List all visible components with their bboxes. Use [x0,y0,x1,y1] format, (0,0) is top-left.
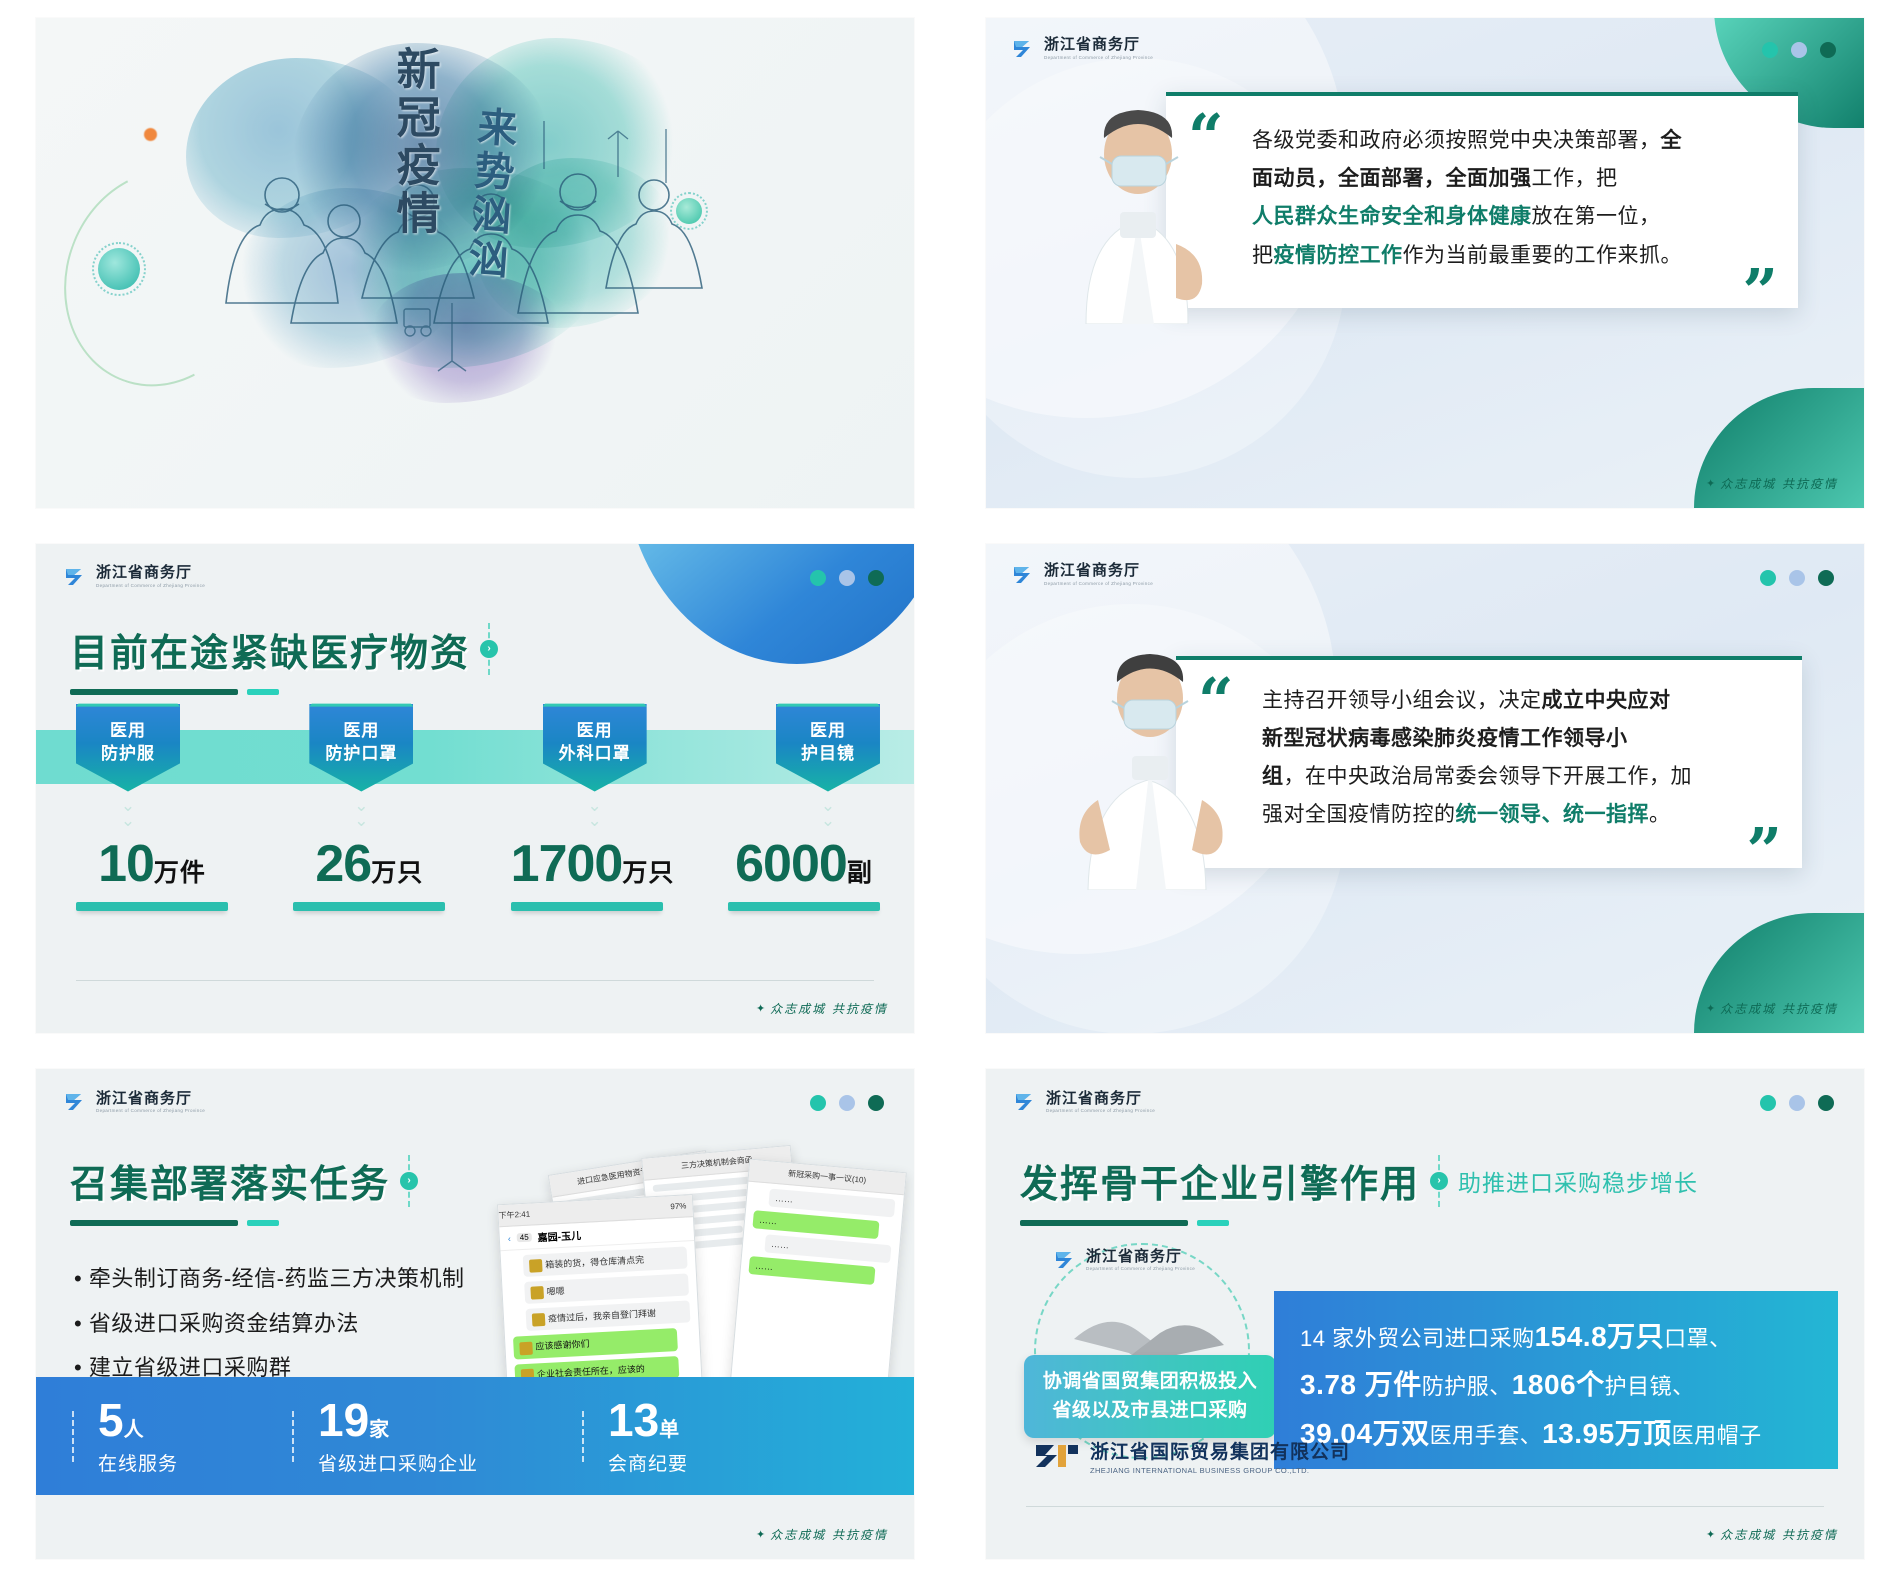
data-label: 医用手套、 [1430,1423,1543,1448]
stats-bar: 5人在线服务19家省级进口采购企业13单会商纪要 [36,1377,914,1495]
stat-label: 省级进口采购企业 [318,1449,582,1476]
data-value: 13.95万顶 [1542,1418,1672,1449]
org-name-en: Department of Commerce of Zhejiang Provi… [1044,56,1153,61]
zib-logo: 浙江省国际贸易集团有限公司 ZHEJIANG INTERNATIONAL BUS… [1034,1437,1350,1475]
data-label: 护目镜、 [1605,1374,1695,1399]
quote-segment: 把 [1252,244,1274,267]
avatar [530,1287,544,1301]
data-label: 14 家外贸公司进口采购 [1300,1326,1535,1351]
quote-line: 各级党委和政府必须按照党中央决策部署，全 [1252,122,1758,160]
title-row: 召集部署落实任务 › [70,1153,410,1208]
supply-badge[interactable]: 医用外科口罩⌄⌄ [543,704,647,828]
badge-cap [776,691,880,707]
data-line: 14 家外贸公司进口采购154.8万只口罩、 [1300,1313,1812,1361]
quote-segment: 统一领导、统一指挥 [1456,803,1650,826]
title-row: 目前在途紧缺医疗物资 › [70,622,490,677]
badge-line-2: 护目镜 [776,743,880,766]
badge-line-2: 防护服 [76,743,180,766]
title-underline [1020,1220,1698,1226]
dot-1 [810,1095,826,1111]
zib-logo-text: 浙江省国际贸易集团有限公司 ZHEJIANG INTERNATIONAL BUS… [1090,1437,1350,1475]
dot-1 [1760,570,1776,586]
stat-unit: 万只 [622,859,674,887]
title-divider: › [1438,1155,1440,1207]
zhejiang-commerce-logo-icon [1010,562,1036,588]
page-title: 发挥骨干企业引擎作用 [1020,1153,1420,1208]
quote-segment: 成立中央应对 [1542,689,1671,712]
quote-segment: 。 [1649,803,1671,826]
data-label: 口罩、 [1664,1326,1732,1351]
data-label: 医用帽子 [1672,1423,1762,1448]
title-block: 目前在途紧缺医疗物资 › [70,622,490,695]
supply-stat: 26万只 [293,834,445,911]
underline-primary [70,689,238,695]
data-value: 154.8万只 [1535,1321,1665,1352]
corner-dots [1760,570,1834,586]
footer-slogan: ✦ 众志成城 共抗疫情 [1706,475,1838,492]
quote-text: 各级党委和政府必须按照党中央决策部署，全面动员，全面部署，全面加强工作，把人民群… [1252,122,1758,275]
stat-unit: 人 [124,1419,144,1441]
org-logo-text: 浙江省商务厅 Department of Commerce of Zhejian… [1046,1091,1155,1115]
org-logo-text: 浙江省商务厅 Department of Commerce of Zhejian… [1044,37,1153,61]
supply-badge-hex: 医用防护口罩 [309,704,413,792]
supply-badge-hex: 医用外科口罩 [543,704,647,792]
chat-message-list: 箱装的货，得仓库清点完嗯嗯疫情过后，我亲自登门拜谢应该感谢你们企业社会责任所在，… [501,1246,702,1387]
quote-line: 主持召开领导小组会议，决定成立中央应对 [1262,682,1768,720]
chevron-down-icon: ⌄⌄ [776,798,880,829]
slide-cell-2: 浙江省商务厅 Department of Commerce of Zhejian… [950,0,1900,526]
slide-cell-4: 浙江省商务厅 Department of Commerce of Zhejian… [950,526,1900,1052]
portrait-photo [1058,640,1243,890]
data-label: 防护服、 [1422,1374,1512,1399]
stat-underline [728,902,880,911]
org-name-en: Department of Commerce of Zhejiang Provi… [96,584,205,589]
dot-2 [839,570,855,586]
dot-2 [1791,42,1807,58]
org-logo: 浙江省商务厅 Department of Commerce of Zhejian… [62,564,205,590]
slogan-icon: ✦ [1706,1002,1715,1015]
corner-dots [810,1095,884,1111]
procurement-data-lines: 14 家外贸公司进口采购154.8万只口罩、3.78 万件防护服、1806个护目… [1300,1313,1812,1457]
procurement-data-block: 14 家外贸公司进口采购154.8万只口罩、3.78 万件防护服、1806个护目… [1274,1291,1838,1469]
supply-stats: 10万件26万只1700万只6000副 [76,834,880,911]
chevron-down-icon: ⌄⌄ [309,798,413,829]
supply-badge[interactable]: 医用护目镜⌄⌄ [776,704,880,828]
stat-number: 6000 [735,835,847,893]
slide-cell-5: 浙江省商务厅 Department of Commerce of Zhejian… [0,1051,950,1577]
stat-number: 5 [98,1394,124,1446]
coordination-pill: 协调省国贸集团积极投入省级以及市县进口采购 [1024,1355,1276,1438]
accent-dot-orange [144,128,157,141]
quote-segment: 全 [1661,129,1683,152]
quote-line: 面动员，全面部署，全面加强工作，把 [1252,160,1758,198]
badge-line-2: 防护口罩 [309,743,413,766]
slide-tasks[interactable]: 浙江省商务厅 Department of Commerce of Zhejian… [36,1069,914,1559]
task-bullet-list: 牵头制订商务-经信-药监三方决策机制省级进口采购资金结算办法建立省级进口采购群 [74,1257,504,1390]
underline-primary [70,1220,238,1226]
badge-line-1: 医用 [309,720,413,743]
corner-dots [1762,42,1836,58]
stat-number: 19 [318,1394,369,1446]
chat-group-title: 嘉园-玉儿 [537,1227,581,1244]
stat-number: 1700 [511,835,623,893]
dot-2 [1789,1095,1805,1111]
chevron-right-icon: › [400,1172,418,1190]
chat-group-count: 45 [517,1233,532,1243]
dot-3 [868,570,884,586]
slogan-icon: ✦ [1706,1528,1715,1541]
quote-segment: 组 [1262,765,1284,788]
org-logo-text: 浙江省商务厅 Department of Commerce of Zhejian… [1044,563,1153,587]
org-name-cn: 浙江省商务厅 [96,563,192,581]
slogan-icon: ✦ [1706,477,1715,490]
back-icon: ‹ [508,1233,512,1243]
quote-segment: 主持召开领导小组会议，决定 [1262,689,1542,712]
quote-segment: ，在中央政治局常委会领导下开展工作，加 [1284,765,1693,788]
chat-bubble: …… [748,1256,875,1285]
cover-title-col-1: 新冠疫情 [388,46,439,238]
title-block: 发挥骨干企业引擎作用 › 助推进口采购稳步增长 [1020,1153,1698,1226]
zib-name-en: ZHEJIANG INTERNATIONAL BUSINESS GROUP CO… [1090,1466,1350,1475]
slogan-text: 众志成城 共抗疫情 [1720,1526,1838,1543]
org-logo: 浙江省商务厅 Department of Commerce of Zhejian… [62,1089,205,1115]
quote-segment: 人民群众生命安全和身体健康 [1252,205,1532,228]
stat-number: 26 [315,835,371,893]
quote-card: “ ” 各级党委和政府必须按照党中央决策部署，全面动员，全面部署，全面加强工作，… [1166,92,1798,308]
data-value: 3.78 万件 [1300,1369,1422,1400]
dot-1 [1760,1095,1776,1111]
badge-line-1: 医用 [76,720,180,743]
slide-cell-6: 浙江省商务厅 Department of Commerce of Zhejian… [950,1051,1900,1577]
summary-stat: 13单会商纪要 [582,1397,802,1476]
slide-enterprise-engine[interactable]: 浙江省商务厅 Department of Commerce of Zhejian… [986,1069,1864,1559]
org-logo: 浙江省商务厅 Department of Commerce of Zhejian… [1010,562,1153,588]
badge-line-2: 外科口罩 [543,743,647,766]
chat-message: 疫情过后，我亲自登门拜谢 [526,1301,691,1332]
footer-slogan: ✦ 众志成城 共抗疫情 [1706,1526,1838,1543]
page-subtitle: 助推进口采购稳步增长 [1458,1164,1698,1198]
slogan-icon: ✦ [756,1002,765,1015]
zhejiang-commerce-logo-icon [1012,1089,1038,1115]
title-divider: › [488,623,490,675]
slide-grid: 新冠疫情 来势汹汹 [0,0,1900,1577]
chat-message: 嗯嗯 [524,1274,689,1305]
zhejiang-commerce-logo-icon [62,564,88,590]
stat-underline [76,902,228,911]
portrait-photo [1056,94,1221,324]
title-underline [70,689,490,695]
avatar [519,1341,533,1355]
data-value: 1806个 [1512,1369,1605,1400]
quote-segment: 面动员，全面部署，全面加强 [1252,167,1532,190]
stat-unit: 家 [369,1419,389,1441]
quote-line: 把疫情防控工作作为当前最重要的工作来抓。 [1252,237,1758,275]
dot-3 [1818,1095,1834,1111]
supply-stat: 1700万只 [511,834,663,911]
chat-time: 下午2:41 [498,1209,530,1222]
data-line: 39.04万双医用手套、13.95万顶医用帽子 [1300,1410,1812,1458]
chevron-down-icon: ⌄⌄ [543,798,647,829]
stat-unit: 万只 [371,859,423,887]
quote-line: 强对全国疫情防控的统一领导、统一指挥。 [1262,796,1768,834]
badge-line-1: 医用 [776,720,880,743]
dot-3 [868,1095,884,1111]
avatar [532,1314,546,1328]
cover-artwork: 新冠疫情 来势汹汹 [36,18,914,508]
supply-badge-hex: 医用防护服 [76,704,180,792]
org-name-en: Department of Commerce of Zhejiang Provi… [1086,1267,1195,1272]
title-underline [70,1220,410,1226]
data-line: 3.78 万件防护服、1806个护目镜、 [1300,1361,1812,1409]
org-name-en: Department of Commerce of Zhejiang Provi… [96,1109,205,1114]
corner-dots [1760,1095,1834,1111]
quote-segment: 疫情防控工作 [1274,244,1403,267]
underline-accent [1197,1220,1229,1226]
slide-cell-1: 新冠疫情 来势汹汹 [0,0,950,526]
slogan-text: 众志成城 共抗疫情 [770,1526,888,1543]
dot-3 [1818,570,1834,586]
chat-message: 箱装的货，得仓库清点完 [523,1247,688,1278]
org-name-en: Department of Commerce of Zhejiang Provi… [1046,1109,1155,1114]
badge-cap [543,691,647,707]
org-logo-text: 浙江省商务厅 Department of Commerce of Zhejian… [1086,1249,1195,1273]
org-name-cn: 浙江省商务厅 [1044,561,1140,579]
supply-badge[interactable]: 医用防护口罩⌄⌄ [309,704,413,828]
org-name-cn: 浙江省商务厅 [96,1089,192,1107]
org-name-cn: 浙江省商务厅 [1086,1247,1182,1265]
quote-close-icon: ” [1742,273,1778,310]
supply-badge[interactable]: 医用防护服⌄⌄ [76,704,180,828]
dot-1 [1762,42,1778,58]
chevron-down-icon: ⌄⌄ [76,798,180,829]
title-divider: › [408,1155,410,1207]
title-block: 召集部署落实任务 › [70,1153,410,1226]
quote-segment: 工作，把 [1532,167,1618,190]
avatar [529,1259,543,1273]
quote-close-icon: ” [1746,832,1782,869]
quote-segment: 强对全国疫情防控的 [1262,803,1456,826]
underline-accent [247,1220,279,1226]
stat-label: 在线服务 [98,1449,292,1476]
org-logo: 浙江省商务厅 Department of Commerce of Zhejian… [1010,36,1153,62]
org-logo: 浙江省商务厅 Department of Commerce of Zhejian… [1012,1089,1155,1115]
stat-number: 13 [608,1394,659,1446]
quote-card: “ ” 主持召开领导小组会议，决定成立中央应对新型冠状病毒感染肺炎疫情工作领导小… [1176,656,1802,868]
page-title: 目前在途紧缺医疗物资 [70,622,470,677]
summary-stat: 5人在线服务 [72,1397,292,1476]
zib-name-cn: 浙江省国际贸易集团有限公司 [1090,1441,1350,1463]
virus-icon-small [676,198,702,224]
slogan-text: 众志成城 共抗疫情 [1720,475,1838,492]
stat-unit: 单 [659,1419,679,1441]
slogan-icon: ✦ [756,1528,765,1541]
slide-quote-li[interactable]: 浙江省商务厅 Department of Commerce of Zhejian… [986,544,1864,1034]
footer-slogan: ✦ 众志成城 共抗疫情 [756,1526,888,1543]
footer-slogan: ✦ 众志成城 共抗疫情 [756,1000,888,1017]
task-bullet: 牵头制订商务-经信-药监三方决策机制 [74,1257,504,1301]
quote-segment: 新型冠状病毒感染肺炎疫情工作领导小 [1262,727,1628,750]
slide-cover[interactable]: 新冠疫情 来势汹汹 [36,18,914,508]
chat-battery: 97% [670,1201,692,1211]
org-name-cn: 浙江省商务厅 [1046,1089,1142,1107]
quote-segment: 各级党委和政府必须按照党中央决策部署， [1252,129,1661,152]
dot-2 [1789,570,1805,586]
quote-line: 组，在中央政治局常委会领导下开展工作，加 [1262,758,1768,796]
org-logo-text: 浙江省商务厅 Department of Commerce of Zhejian… [96,1091,205,1115]
quote-line: 人民群众生命安全和身体健康放在第一位， [1252,198,1758,236]
zhejiang-commerce-logo-icon [1010,36,1036,62]
badge-line-1: 医用 [543,720,647,743]
underline-accent [247,689,279,695]
stat-underline [293,902,445,911]
quote-segment: 放在第一位， [1532,205,1661,228]
cover-title-line1: 新冠疫情 [388,46,439,238]
zib-mark-icon [1034,1441,1080,1471]
stat-label: 会商纪要 [608,1449,802,1476]
chat-message: 应该感谢你们 [513,1329,678,1360]
quote-line: 新型冠状病毒感染肺炎疫情工作领导小 [1262,720,1768,758]
dot-2 [839,1095,855,1111]
slogan-text: 众志成城 共抗疫情 [1720,1000,1838,1017]
slide-quote-xi[interactable]: 浙江省商务厅 Department of Commerce of Zhejian… [986,18,1864,508]
zhejiang-commerce-logo-icon [62,1089,88,1115]
chevron-right-icon: › [1430,1172,1448,1190]
supply-badge-hex: 医用护目镜 [776,704,880,792]
title-row: 发挥骨干企业引擎作用 › 助推进口采购稳步增长 [1020,1153,1698,1208]
slide-supplies[interactable]: 浙江省商务厅 Department of Commerce of Zhejian… [36,544,914,1034]
supply-badges: 医用防护服⌄⌄医用防护口罩⌄⌄医用外科口罩⌄⌄医用护目镜⌄⌄ [76,704,880,828]
slogan-text: 众志成城 共抗疫情 [770,1000,888,1017]
stat-number: 10 [98,835,154,893]
supply-stat: 10万件 [76,834,228,911]
underline-primary [1020,1220,1188,1226]
supply-stat: 6000副 [728,834,880,911]
org-name-cn: 浙江省商务厅 [1044,35,1140,53]
footer-rule [76,980,874,981]
org-name-en: Department of Commerce of Zhejiang Provi… [1044,582,1153,587]
page-title: 召集部署落实任务 [70,1153,390,1208]
stat-unit: 副 [847,859,873,887]
slide-cell-3: 浙江省商务厅 Department of Commerce of Zhejian… [0,526,950,1052]
stat-underline [511,902,663,911]
footer-slogan: ✦ 众志成城 共抗疫情 [1706,1000,1838,1017]
task-bullet: 省级进口采购资金结算办法 [74,1302,504,1346]
dot-1 [810,570,826,586]
org-logo-text: 浙江省商务厅 Department of Commerce of Zhejian… [96,565,205,589]
corner-dots [810,570,884,586]
stats-row: 5人在线服务19家省级进口采购企业13单会商纪要 [36,1397,914,1476]
footer-rule [1026,1506,1824,1507]
quote-segment: 作为当前最重要的工作来抓。 [1403,244,1683,267]
org-logo-inner: 浙江省商务厅 Department of Commerce of Zhejian… [1052,1247,1195,1273]
chevron-right-icon: › [480,640,498,658]
stat-unit: 万件 [154,859,206,887]
quote-text: 主持召开领导小组会议，决定成立中央应对新型冠状病毒感染肺炎疫情工作领导小组，在中… [1262,682,1768,835]
top-blob-decor [624,544,914,664]
dot-3 [1820,42,1836,58]
zhejiang-commerce-logo-icon [1052,1247,1078,1273]
summary-stat: 19家省级进口采购企业 [292,1397,582,1476]
